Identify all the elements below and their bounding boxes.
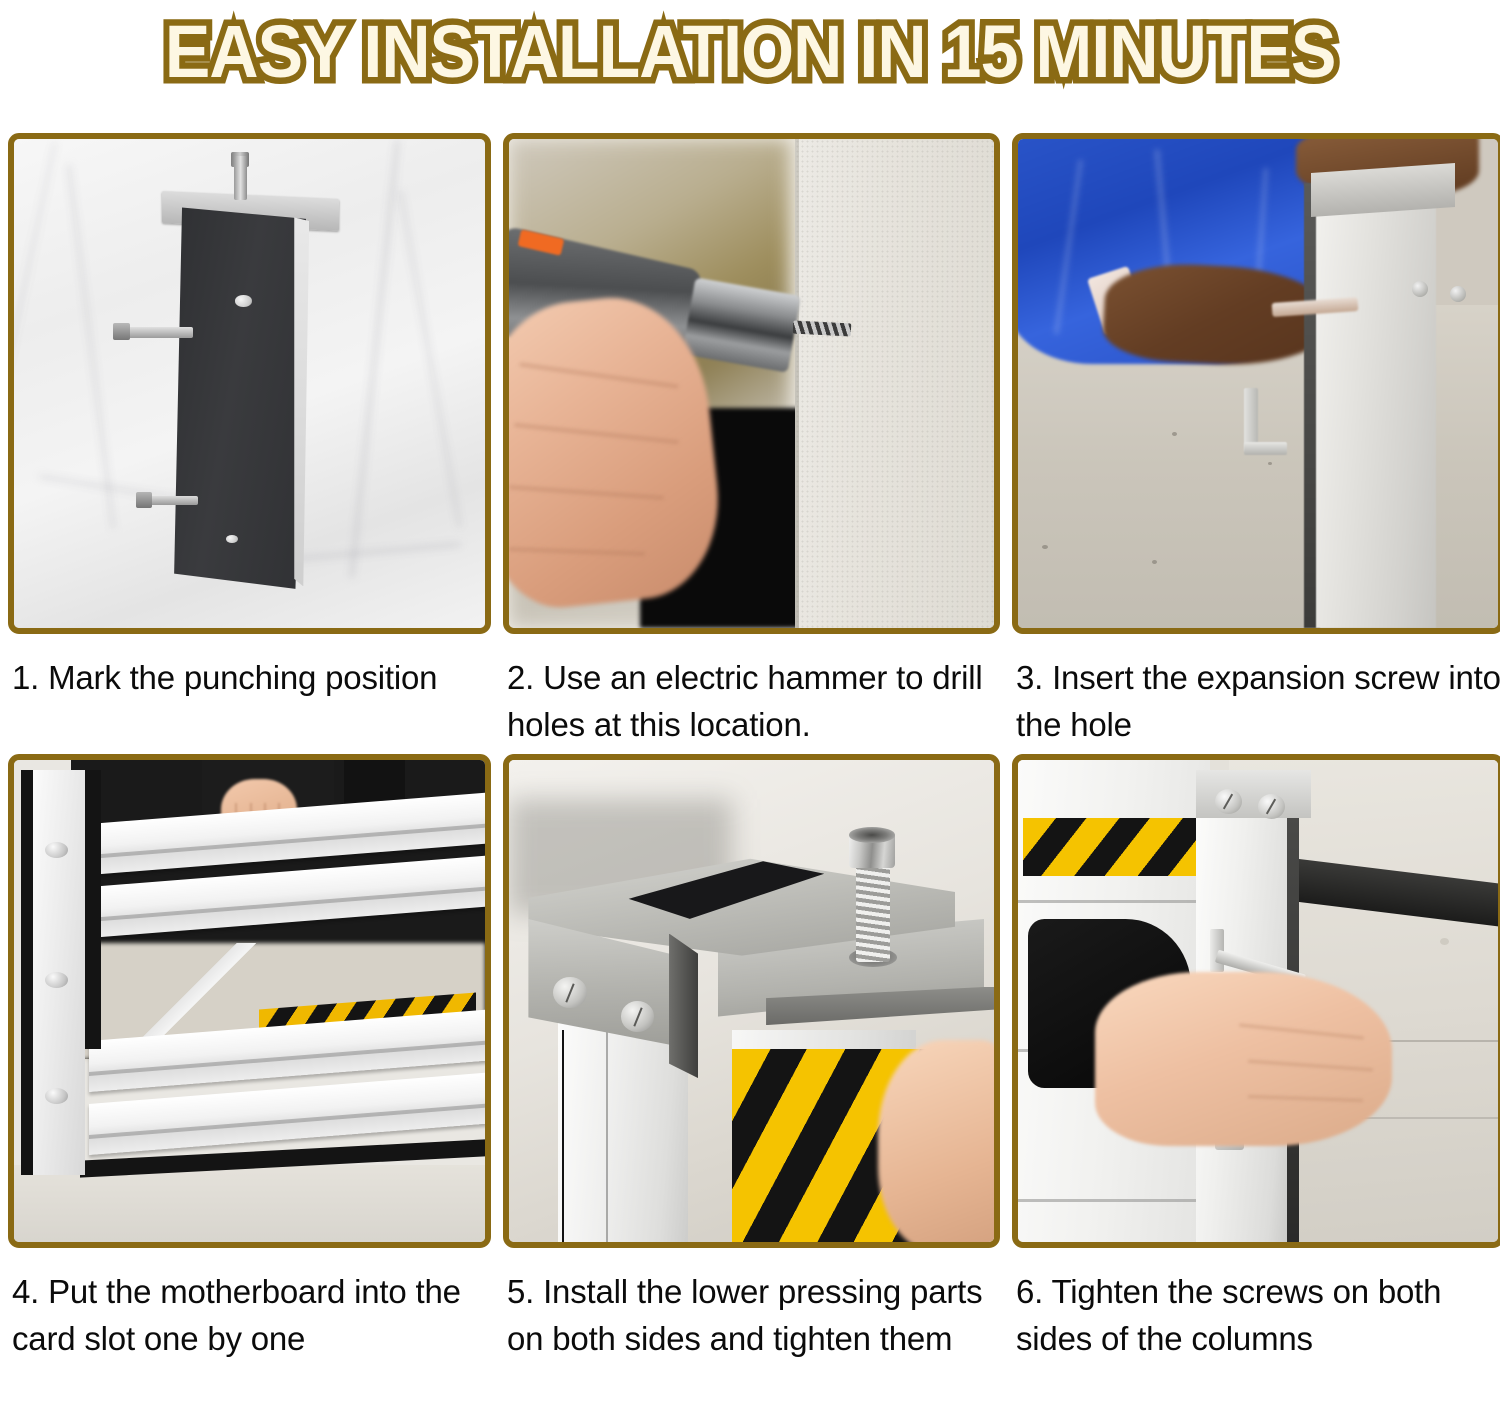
step-card-1: 1. Mark the punching position: [8, 133, 491, 754]
step-photo-1: [14, 139, 485, 628]
step-photo-frame-2: [503, 133, 1000, 634]
step-caption-4: 4. Put the motherboard into the card slo…: [8, 1248, 491, 1418]
step-photo-6: [1018, 760, 1498, 1242]
step-caption-3: 3. Insert the expansion screw into the h…: [1012, 634, 1500, 754]
step-card-4: 4. Put the motherboard into the card slo…: [8, 754, 491, 1418]
step-caption-2: 2. Use an electric hammer to drill holes…: [503, 634, 1000, 754]
step-caption-6: 6. Tighten the screws on both sides of t…: [1012, 1248, 1500, 1418]
step-photo-2: [509, 139, 994, 628]
step-photo-frame-3: [1012, 133, 1500, 634]
step-photo-frame-5: [503, 754, 1000, 1248]
page-title: EASY INSTALLATION IN 15 MINUTES: [165, 15, 1336, 89]
step-photo-4: [14, 760, 485, 1242]
title-banner: EASY INSTALLATION IN 15 MINUTES: [0, 0, 1500, 104]
step-photo-3: [1018, 139, 1498, 628]
step-card-2: 2. Use an electric hammer to drill holes…: [503, 133, 1000, 754]
step-card-5: 5. Install the lower pressing parts on b…: [503, 754, 1000, 1418]
step-caption-1: 1. Mark the punching position: [8, 634, 491, 754]
step-card-3: 3. Insert the expansion screw into the h…: [1012, 133, 1500, 754]
step-photo-5: [509, 760, 994, 1242]
step-card-6: 6. Tighten the screws on both sides of t…: [1012, 754, 1500, 1418]
installation-steps-grid: 1. Mark the punching position 2. Use an …: [8, 133, 1492, 1418]
step-caption-5: 5. Install the lower pressing parts on b…: [503, 1248, 1000, 1418]
step-photo-frame-4: [8, 754, 491, 1248]
step-photo-frame-1: [8, 133, 491, 634]
step-photo-frame-6: [1012, 754, 1500, 1248]
